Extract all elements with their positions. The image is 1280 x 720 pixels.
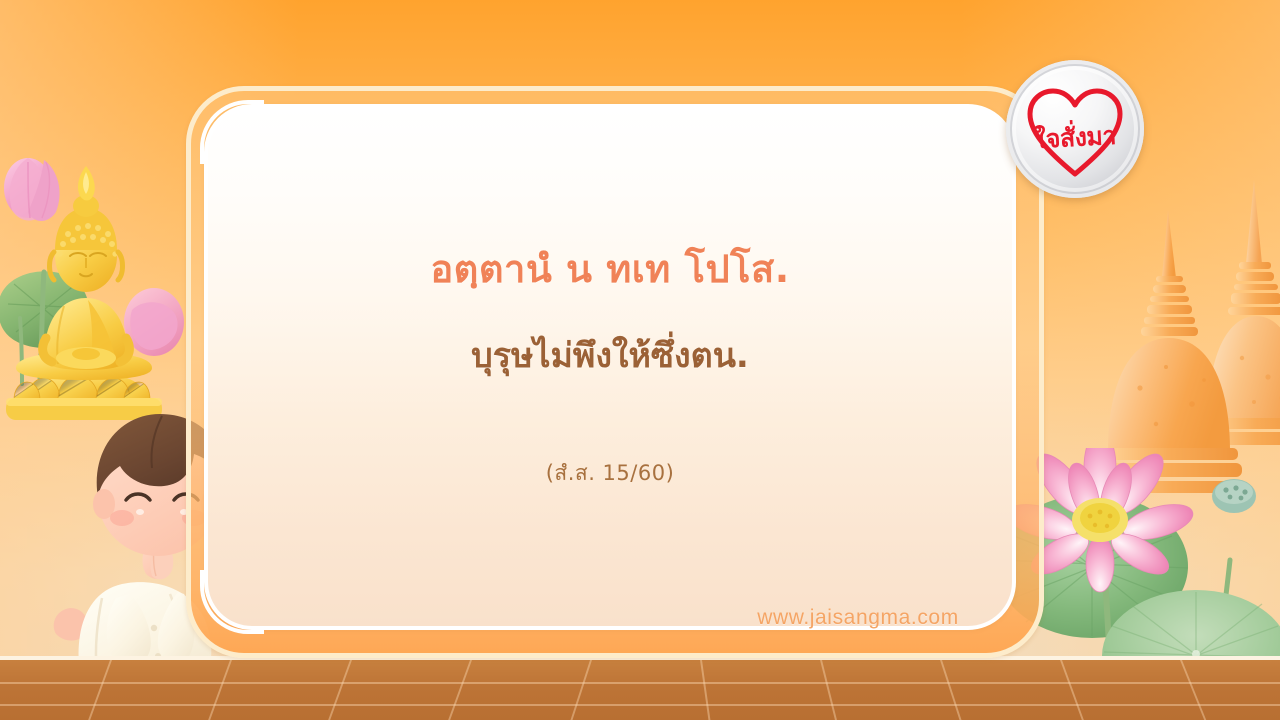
heart-icon	[1016, 70, 1134, 188]
buddha-statue	[0, 132, 202, 432]
buddha-head	[50, 166, 123, 292]
pagoda-group	[1096, 152, 1280, 512]
scripture-citation: (สํ.ส. 15/60)	[546, 457, 675, 490]
thai-translation-line: บุรุษไม่พึงให้ซึ่งตน.	[471, 333, 749, 381]
lotus-seed-pod	[1212, 479, 1256, 513]
quote-text-block: อตฺตานํ น ทเท โปโส. บุรุษไม่พึงให้ซึ่งตน…	[204, 104, 1016, 630]
pali-quote-line: อตฺตานํ น ทเท โปโส.	[430, 244, 789, 295]
website-url[interactable]: www.jaisangma.com	[700, 606, 1016, 630]
buddha-body	[43, 298, 130, 370]
lotus-pedestal	[6, 352, 162, 420]
tiled-floor	[0, 656, 1280, 720]
pagoda-back	[1200, 180, 1280, 445]
quote-card-canvas: อตฺตานํ น ทเท โปโส. บุรุษไม่พึงให้ซึ่งตน…	[0, 0, 1280, 720]
lotus-flower-left	[4, 158, 60, 221]
jaisangma-logo-badge[interactable]: ใจสั่งมา	[1006, 60, 1144, 198]
pagoda-front	[1096, 210, 1246, 493]
